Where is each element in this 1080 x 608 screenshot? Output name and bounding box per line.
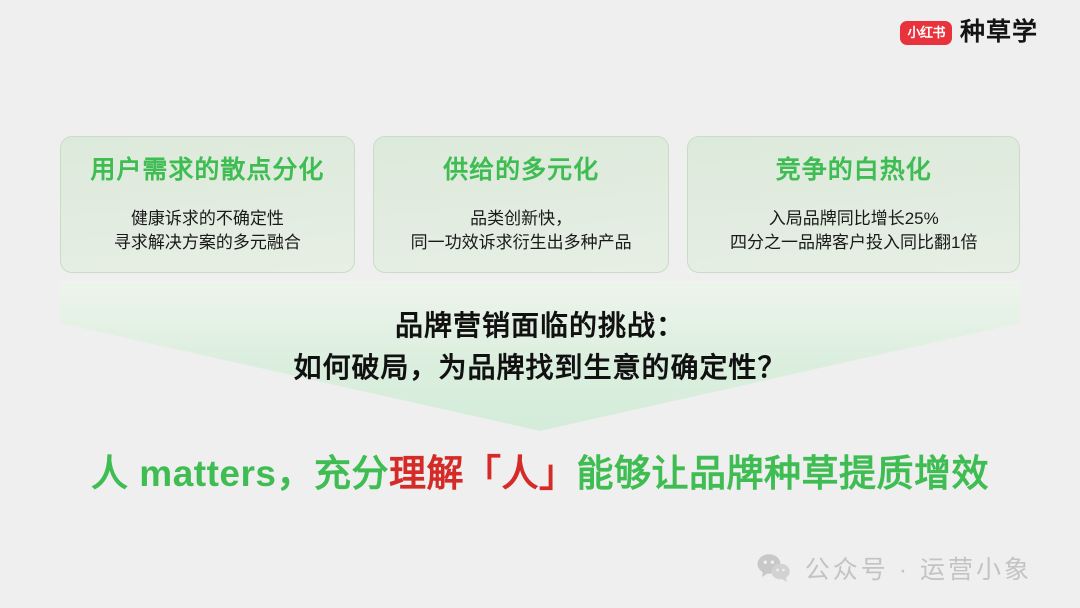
card-body: 健康诉求的不确定性 寻求解决方案的多元融合 xyxy=(114,207,301,256)
challenge-cards-row: 用户需求的散点分化 健康诉求的不确定性 寻求解决方案的多元融合 供给的多元化 品… xyxy=(60,136,1020,273)
challenge-card-supply: 供给的多元化 品类创新快， 同一功效诉求衍生出多种产品 xyxy=(373,136,670,273)
wechat-icon xyxy=(757,553,791,583)
card-body-line: 品类创新快， xyxy=(411,207,632,232)
slide-canvas: 小红书 种草学 用户需求的散点分化 健康诉求的不确定性 寻求解决方案的多元融合 … xyxy=(0,0,1080,608)
card-body: 入局品牌同比增长25% 四分之一品牌客户投入同比翻1倍 xyxy=(730,207,977,256)
card-title: 供给的多元化 xyxy=(443,157,599,185)
card-title: 竞争的白热化 xyxy=(776,157,932,185)
brand-name-label: 种草学 xyxy=(960,20,1038,45)
xiaohongshu-badge-icon: 小红书 xyxy=(900,21,952,45)
watermark-text: 公众号 · 运营小象 xyxy=(805,550,1032,586)
challenge-card-competition: 竞争的白热化 入局品牌同比增长25% 四分之一品牌客户投入同比翻1倍 xyxy=(687,136,1020,273)
challenge-card-user-demand: 用户需求的散点分化 健康诉求的不确定性 寻求解决方案的多元融合 xyxy=(60,136,355,273)
headline-segment-green-tail: 能够让品牌种草提质增效 xyxy=(576,453,989,494)
challenge-statement-line1: 品牌营销面临的挑战： xyxy=(0,305,1080,347)
brand-logo: 小红书 种草学 xyxy=(900,20,1038,45)
card-title: 用户需求的散点分化 xyxy=(90,157,324,185)
challenge-statement-line2: 如何破局，为品牌找到生意的确定性？ xyxy=(0,347,1080,389)
watermark: 公众号 · 运营小象 xyxy=(757,550,1032,586)
card-body-line: 寻求解决方案的多元融合 xyxy=(114,231,301,256)
card-body-line: 同一功效诉求衍生出多种产品 xyxy=(411,231,632,256)
card-body-line: 入局品牌同比增长25% xyxy=(730,207,977,232)
headline: 人 matters，充分理解「人」能够让品牌种草提质增效 xyxy=(0,450,1080,498)
card-body-line: 健康诉求的不确定性 xyxy=(114,207,301,232)
card-body-line: 四分之一品牌客户投入同比翻1倍 xyxy=(730,231,977,256)
challenge-statement: 品牌营销面临的挑战： 如何破局，为品牌找到生意的确定性？ xyxy=(0,305,1080,389)
card-body: 品类创新快， 同一功效诉求衍生出多种产品 xyxy=(411,207,632,256)
headline-segment-red-emphasis: 理解「人」 xyxy=(389,453,577,494)
headline-segment-green-lead: 人 matters，充分 xyxy=(91,453,389,494)
